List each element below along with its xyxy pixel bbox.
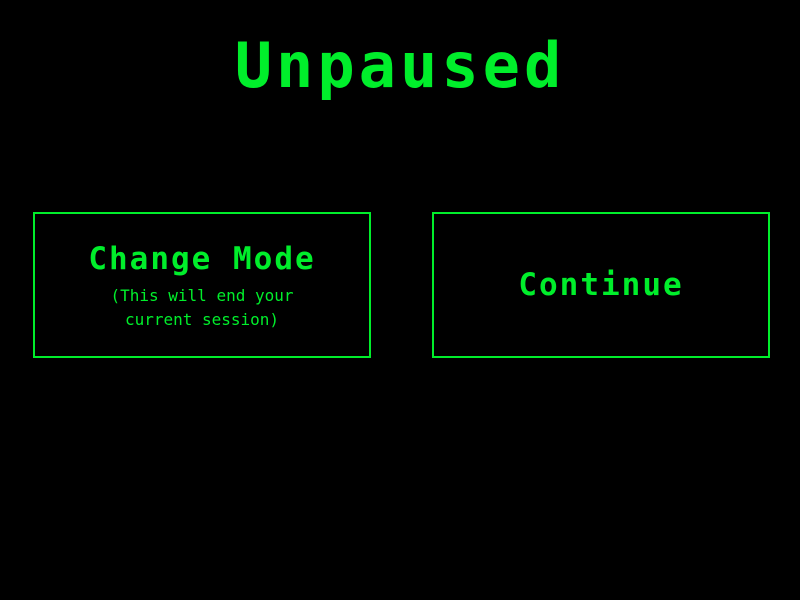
game-pause-screen: Unpaused Change Mode (This will end your… [0,0,800,600]
empty-lower-region [0,360,800,600]
change-mode-button-label: Change Mode [88,240,315,278]
change-mode-button[interactable]: Change Mode (This will end your current … [33,212,371,358]
page-title: Unpaused [0,28,800,104]
continue-button-label: Continue [518,266,683,304]
continue-button[interactable]: Continue [432,212,770,358]
change-mode-button-sublabel: (This will end your current session) [110,284,293,332]
